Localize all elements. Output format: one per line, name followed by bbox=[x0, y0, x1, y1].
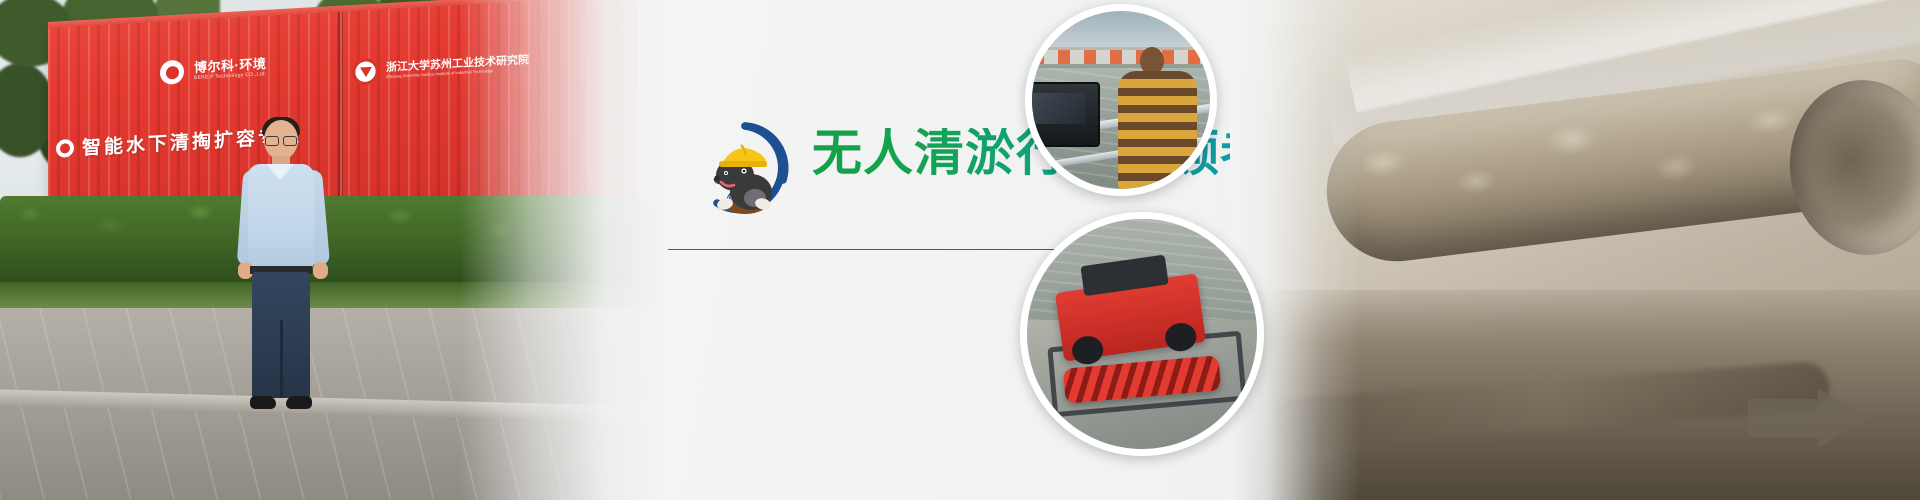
right-photo-zone bbox=[1230, 0, 1920, 500]
portable-control-case bbox=[1025, 82, 1100, 147]
photo-inner bbox=[1032, 11, 1210, 189]
mud-mole-logo: MUD MOLE bbox=[695, 118, 795, 218]
dredging-robot-photo bbox=[1020, 212, 1264, 456]
hero-banner: 博尔科·环境 BEKE.P Technology CO.,Ltd. 浙江大学苏州… bbox=[0, 0, 1920, 500]
person-shoe-left bbox=[250, 396, 276, 409]
person-trouser-seam bbox=[280, 320, 283, 398]
glasses-icon bbox=[265, 136, 297, 144]
university-emblem-icon bbox=[352, 57, 379, 86]
person-hand-right bbox=[313, 262, 328, 279]
left-photo: 博尔科·环境 BEKE.P Technology CO.,Ltd. 浙江大学苏州… bbox=[0, 0, 660, 500]
person-shirt bbox=[248, 164, 314, 268]
left-photo-fade bbox=[460, 0, 660, 500]
operator bbox=[1110, 47, 1203, 189]
brand-logo-icon bbox=[160, 60, 184, 85]
person-engineer bbox=[236, 120, 328, 420]
photo-inner bbox=[1027, 219, 1257, 449]
slogan-bullet-icon bbox=[56, 138, 74, 157]
control-screen bbox=[1025, 93, 1086, 124]
operator-striped-shirt bbox=[1118, 71, 1198, 191]
person-shoe-right bbox=[286, 396, 312, 409]
operator-with-control-case-photo bbox=[1025, 4, 1217, 196]
